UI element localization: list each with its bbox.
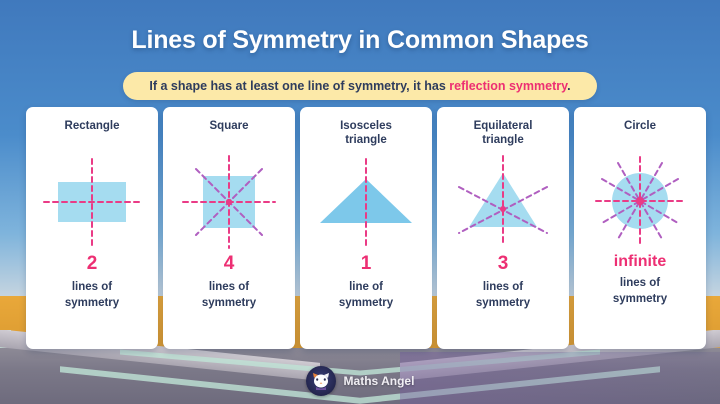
shape-figure-circle: [580, 151, 700, 251]
caption-line-1: lines of: [613, 276, 667, 292]
symmetry-caption: line of symmetry: [339, 280, 393, 311]
circle-svg: [580, 151, 700, 251]
symmetry-count: 1: [361, 253, 372, 275]
caption-line-1: lines of: [476, 280, 530, 296]
shape-card-equilateral-triangle[interactable]: Equilateral triangle 3 lines of symmetry: [437, 107, 569, 349]
symmetry-count: infinite: [614, 253, 666, 271]
shape-figure-isosceles-triangle: [306, 151, 426, 251]
symmetry-caption: lines of symmetry: [65, 280, 119, 311]
symmetry-caption: lines of symmetry: [613, 276, 667, 307]
shape-figure-rectangle: [32, 151, 152, 251]
cat-mascot-glyph: [310, 370, 332, 392]
subtitle-prefix: If a shape has at least one line of symm…: [149, 79, 449, 93]
shape-card-title: Square: [210, 119, 249, 149]
symmetry-count: 3: [498, 253, 509, 275]
shape-card-title-line-2: triangle: [340, 133, 392, 147]
shape-card-title: Isosceles triangle: [340, 119, 392, 149]
subtitle-suffix: .: [567, 79, 570, 93]
caption-line-2: symmetry: [476, 296, 530, 312]
square-svg: [169, 151, 289, 251]
caption-line-1: lines of: [65, 280, 119, 296]
shape-card-title-line-2: triangle: [474, 133, 533, 147]
rectangle-svg: [32, 151, 152, 251]
symmetry-count: 2: [87, 253, 98, 275]
symmetry-caption: lines of symmetry: [476, 280, 530, 311]
equilateral-triangle-svg: [443, 151, 563, 251]
caption-line-1: line of: [339, 280, 393, 296]
shape-card-square[interactable]: Square 4 lines of symmetry: [163, 107, 295, 349]
subtitle-banner: If a shape has at least one line of symm…: [123, 72, 596, 100]
page-title: Lines of Symmetry in Common Shapes: [0, 26, 720, 55]
subtitle-highlight: reflection symmetry: [449, 79, 567, 93]
symmetry-count: 4: [224, 253, 235, 275]
caption-line-2: symmetry: [65, 296, 119, 312]
caption-line-1: lines of: [202, 280, 256, 296]
caption-line-2: symmetry: [339, 296, 393, 312]
shape-card-row: Rectangle 2 lines of symmetry Square: [26, 107, 706, 349]
shape-card-title: Circle: [624, 119, 656, 149]
shape-card-rectangle[interactable]: Rectangle 2 lines of symmetry: [26, 107, 158, 349]
shape-card-title: Rectangle: [65, 119, 120, 149]
shape-card-title: Equilateral triangle: [474, 119, 533, 149]
footer-brand: Maths Angel: [0, 366, 720, 396]
caption-line-2: symmetry: [613, 292, 667, 308]
brand-name: Maths Angel: [344, 374, 415, 388]
shape-card-isosceles-triangle[interactable]: Isosceles triangle 1 line of symmetry: [300, 107, 432, 349]
symmetry-caption: lines of symmetry: [202, 280, 256, 311]
caption-line-2: symmetry: [202, 296, 256, 312]
shape-card-circle[interactable]: Circle infinite lines of: [574, 107, 706, 349]
infographic-canvas: Lines of Symmetry in Common Shapes If a …: [0, 0, 720, 404]
shape-figure-square: [169, 151, 289, 251]
isosceles-triangle-svg: [306, 151, 426, 251]
subtitle-banner-wrap: If a shape has at least one line of symm…: [0, 72, 720, 100]
shape-card-title-line-1: Isosceles: [340, 119, 392, 133]
shape-figure-equilateral-triangle: [443, 151, 563, 251]
cat-mascot-icon: [306, 366, 336, 396]
shape-card-title-line-1: Equilateral: [474, 119, 533, 133]
